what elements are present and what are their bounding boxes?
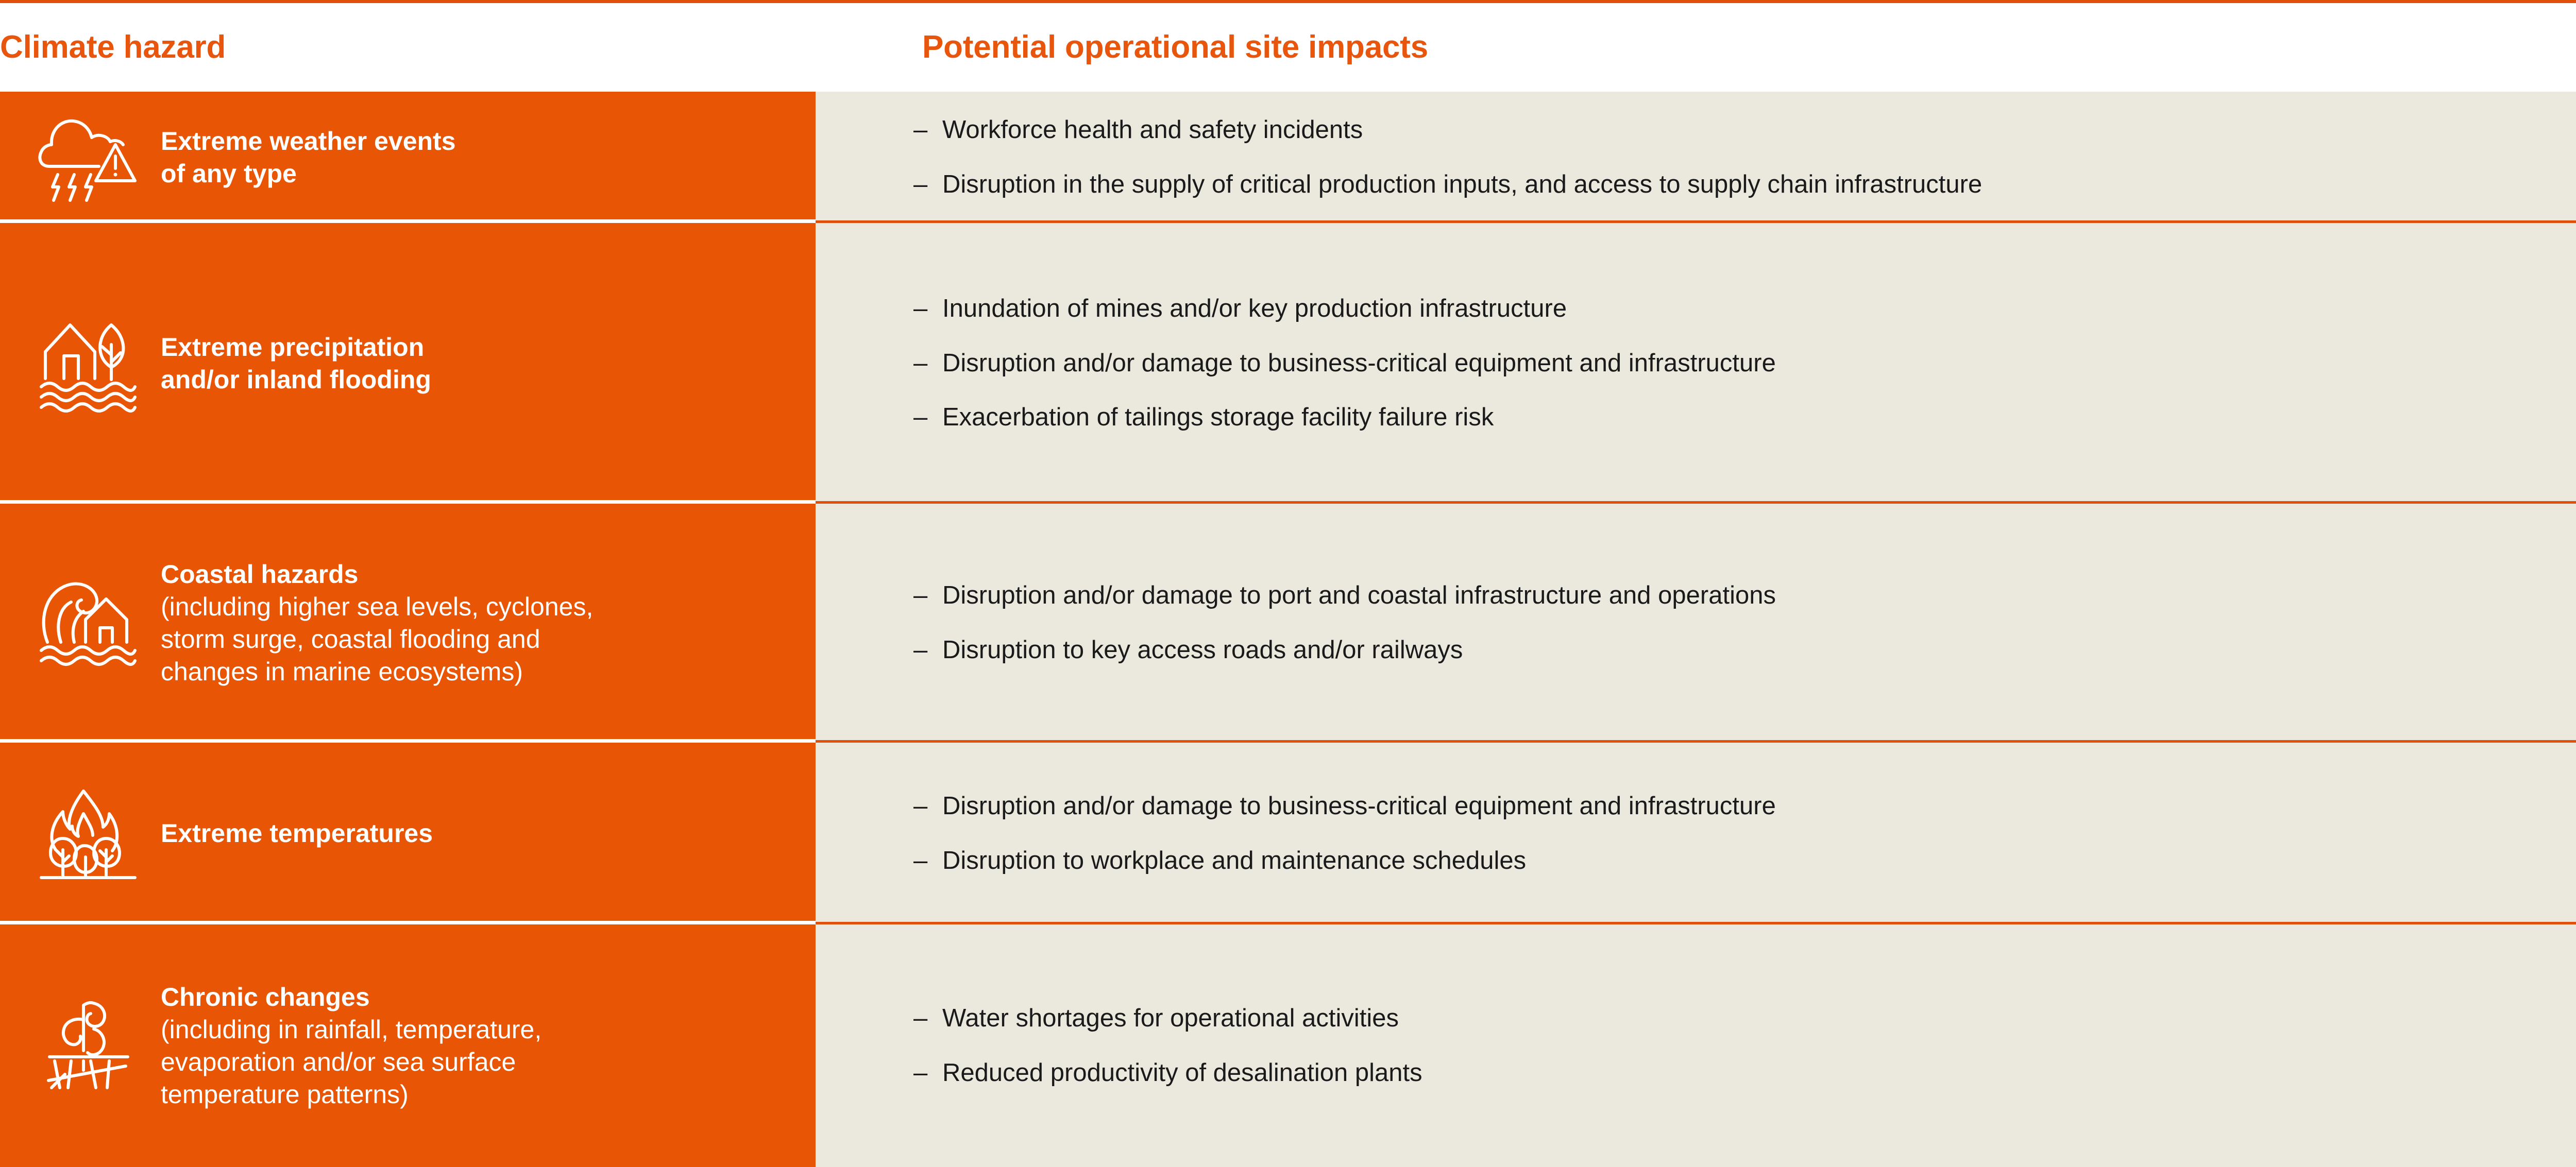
header-cell-climate-hazard: Climate hazard bbox=[0, 3, 816, 92]
impact-text: Reduced productivity of desalination pla… bbox=[942, 1057, 2545, 1090]
row-divider-left bbox=[0, 500, 816, 504]
bullet-dash-icon: – bbox=[913, 579, 942, 612]
bullet-dash-icon: – bbox=[913, 1002, 942, 1035]
hazard-title: Chronic changes bbox=[161, 981, 805, 1014]
impact-text: Exacerbation of tailings storage facilit… bbox=[942, 401, 2545, 434]
table-row: Extreme temperatures – Disruption and/or… bbox=[0, 743, 2576, 924]
list-item: – Workforce health and safety incidents bbox=[913, 114, 2545, 147]
climate-hazard-table: Climate hazard Potential operational sit… bbox=[0, 0, 2576, 1167]
impacts-cell: – Inundation of mines and/or key product… bbox=[816, 223, 2576, 504]
bullet-dash-icon: – bbox=[913, 347, 942, 380]
hazard-title: Extreme weather events of any type bbox=[161, 125, 805, 190]
list-item: – Disruption and/or damage to port and c… bbox=[913, 579, 2545, 612]
bullet-dash-icon: – bbox=[913, 1057, 942, 1090]
bullet-dash-icon: – bbox=[913, 114, 942, 147]
impacts-list: – Disruption and/or damage to port and c… bbox=[816, 579, 2576, 666]
impacts-cell: – Workforce health and safety incidents … bbox=[816, 92, 2576, 223]
list-item: – Inundation of mines and/or key product… bbox=[913, 293, 2545, 325]
hazard-subtitle: (including higher sea levels, cyclones, … bbox=[161, 591, 805, 688]
list-item: – Reduced productivity of desalination p… bbox=[913, 1057, 2545, 1090]
bullet-dash-icon: – bbox=[913, 790, 942, 823]
table-row: Extreme weather events of any type – Wor… bbox=[0, 92, 2576, 223]
list-item: – Disruption to workplace and maintenanc… bbox=[913, 845, 2545, 878]
storm-cloud-lightning-warning-icon bbox=[27, 109, 149, 207]
row-divider-left bbox=[0, 219, 816, 223]
hazard-cell: Extreme weather events of any type bbox=[0, 92, 816, 223]
table-row: Extreme precipitation and/or inland floo… bbox=[0, 223, 2576, 504]
impact-text: Disruption and/or damage to port and coa… bbox=[942, 579, 2545, 612]
impact-text: Disruption to workplace and maintenance … bbox=[942, 845, 2545, 878]
wildfire-trees-icon bbox=[27, 785, 149, 883]
hazard-cell: Extreme temperatures bbox=[0, 743, 816, 924]
impacts-cell: – Disruption and/or damage to business-c… bbox=[816, 743, 2576, 924]
impacts-list: – Water shortages for operational activi… bbox=[816, 1002, 2576, 1089]
hazard-label: Extreme temperatures bbox=[149, 817, 816, 850]
bullet-dash-icon: – bbox=[913, 634, 942, 667]
bullet-dash-icon: – bbox=[913, 845, 942, 878]
impact-text: Water shortages for operational activiti… bbox=[942, 1002, 2545, 1035]
header-cell-site-impacts: Potential operational site impacts bbox=[922, 3, 2576, 92]
impact-text: Workforce health and safety incidents bbox=[942, 114, 2545, 147]
row-divider-left bbox=[0, 921, 816, 924]
impact-text: Disruption and/or damage to business-cri… bbox=[942, 790, 2545, 823]
wave-over-house-icon bbox=[27, 574, 149, 672]
impacts-list: – Workforce health and safety incidents … bbox=[816, 114, 2576, 201]
table-row: Chronic changes (including in rainfall, … bbox=[0, 924, 2576, 1167]
list-item: – Disruption in the supply of critical p… bbox=[913, 168, 2545, 201]
hazard-label: Coastal hazards (including higher sea le… bbox=[149, 558, 816, 688]
impacts-cell: – Water shortages for operational activi… bbox=[816, 924, 2576, 1167]
row-divider-left bbox=[0, 739, 816, 743]
flooded-house-tree-icon bbox=[27, 315, 149, 413]
table-row: Coastal hazards (including higher sea le… bbox=[0, 504, 2576, 743]
wilting-plant-dry-soil-icon bbox=[27, 997, 149, 1095]
impact-text: Disruption and/or damage to business-cri… bbox=[942, 347, 2545, 380]
list-item: – Disruption and/or damage to business-c… bbox=[913, 790, 2545, 823]
hazard-title: Extreme temperatures bbox=[161, 817, 805, 850]
table-body: Extreme weather events of any type – Wor… bbox=[0, 92, 2576, 1167]
hazard-title: Coastal hazards bbox=[161, 558, 805, 591]
header-label-site-impacts: Potential operational site impacts bbox=[922, 30, 1428, 64]
hazard-cell: Coastal hazards (including higher sea le… bbox=[0, 504, 816, 743]
hazard-cell: Extreme precipitation and/or inland floo… bbox=[0, 223, 816, 504]
list-item: – Water shortages for operational activi… bbox=[913, 1002, 2545, 1035]
impacts-cell: – Disruption and/or damage to port and c… bbox=[816, 504, 2576, 743]
list-item: – Disruption to key access roads and/or … bbox=[913, 634, 2545, 667]
hazard-title: Extreme precipitation and/or inland floo… bbox=[161, 331, 805, 396]
header-label-climate-hazard: Climate hazard bbox=[0, 30, 226, 64]
table-header: Climate hazard Potential operational sit… bbox=[0, 3, 2576, 92]
hazard-subtitle: (including in rainfall, temperature, eva… bbox=[161, 1014, 805, 1111]
hazard-label: Chronic changes (including in rainfall, … bbox=[149, 981, 816, 1111]
impact-text: Disruption in the supply of critical pro… bbox=[942, 168, 2545, 201]
hazard-label: Extreme precipitation and/or inland floo… bbox=[149, 331, 816, 396]
impacts-list: – Disruption and/or damage to business-c… bbox=[816, 790, 2576, 877]
hazard-label: Extreme weather events of any type bbox=[149, 125, 816, 190]
hazard-cell: Chronic changes (including in rainfall, … bbox=[0, 924, 816, 1167]
list-item: – Exacerbation of tailings storage facil… bbox=[913, 401, 2545, 434]
impact-text: Disruption to key access roads and/or ra… bbox=[942, 634, 2545, 667]
bullet-dash-icon: – bbox=[913, 293, 942, 325]
impacts-list: – Inundation of mines and/or key product… bbox=[816, 293, 2576, 434]
bullet-dash-icon: – bbox=[913, 168, 942, 201]
list-item: – Disruption and/or damage to business-c… bbox=[913, 347, 2545, 380]
bullet-dash-icon: – bbox=[913, 401, 942, 434]
impact-text: Inundation of mines and/or key productio… bbox=[942, 293, 2545, 325]
